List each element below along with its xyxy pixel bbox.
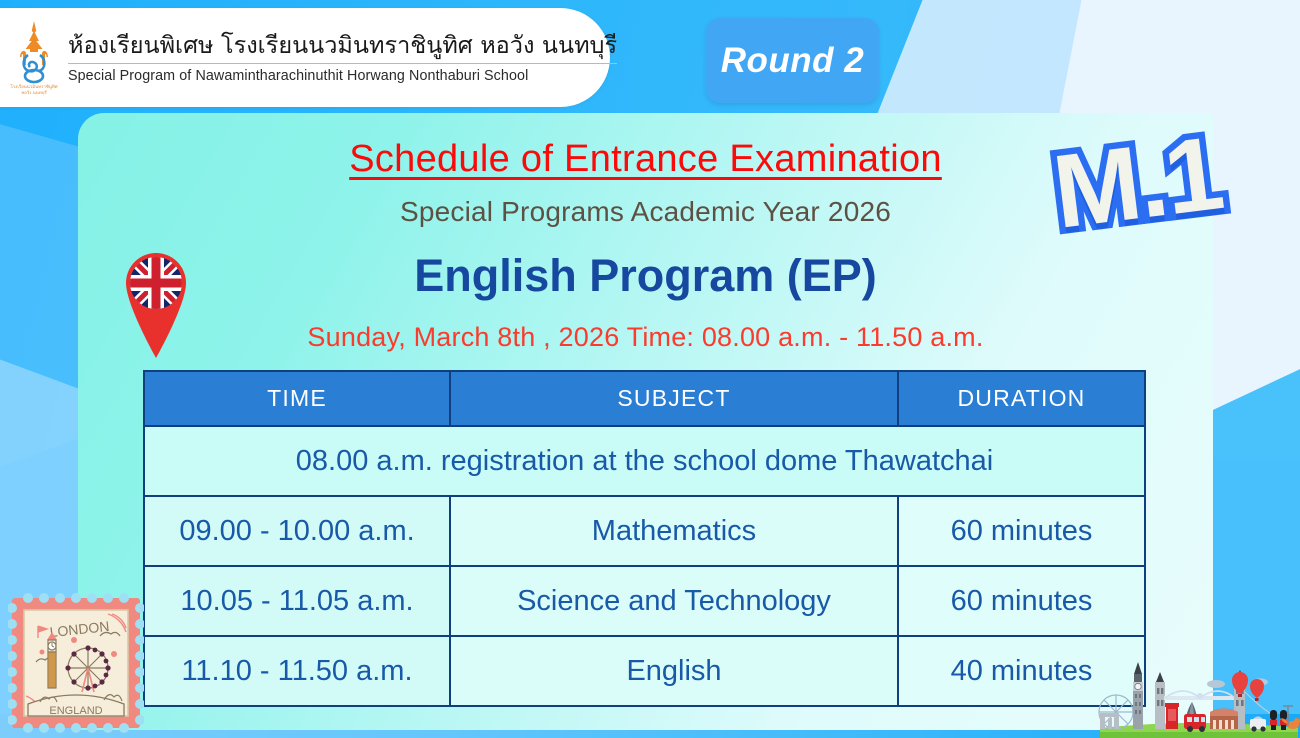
cell-time: 10.05 - 11.05 a.m. bbox=[144, 566, 450, 636]
cell-time: 11.10 - 11.50 a.m. bbox=[144, 636, 450, 706]
table-header-row: TIME SUBJECT DURATION bbox=[144, 371, 1145, 426]
london-skyline-illustration bbox=[1098, 636, 1300, 738]
registration-note: 08.00 a.m. registration at the school do… bbox=[144, 426, 1145, 496]
exam-datetime: Sunday, March 8th , 2026 Time: 08.00 a.m… bbox=[78, 322, 1213, 353]
grade-badge-label: M.1 bbox=[1023, 105, 1252, 260]
school-title-english: Special Program of Nawamintharachinuthit… bbox=[68, 68, 617, 84]
cell-subject: Mathematics bbox=[450, 496, 898, 566]
cell-subject: Science and Technology bbox=[450, 566, 898, 636]
school-crest-icon: โรงเรียนนวมินทราชินูทิศ หอวัง นนทบุรี bbox=[8, 19, 60, 97]
cell-time: 09.00 - 10.00 a.m. bbox=[144, 496, 450, 566]
school-header-card: โรงเรียนนวมินทราชินูทิศ หอวัง นนทบุรี ห้… bbox=[0, 8, 610, 107]
cell-subject: English bbox=[450, 636, 898, 706]
header-divider bbox=[68, 63, 617, 64]
svg-text:หอวัง นนทบุรี: หอวัง นนทบุรี bbox=[21, 90, 47, 96]
cell-duration: 60 minutes bbox=[898, 566, 1145, 636]
column-header-subject: SUBJECT bbox=[450, 371, 898, 426]
round-badge: Round 2 bbox=[706, 18, 879, 103]
table-row: 09.00 - 10.00 a.m. Mathematics 60 minute… bbox=[144, 496, 1145, 566]
table-row: 10.05 - 11.05 a.m. Science and Technolog… bbox=[144, 566, 1145, 636]
poster-canvas: โรงเรียนนวมินทราชินูทิศ หอวัง นนทบุรี ห้… bbox=[0, 0, 1300, 738]
school-title-thai: ห้องเรียนพิเศษ โรงเรียนนวมินทราชินูทิศ ห… bbox=[68, 31, 617, 60]
cell-duration: 60 minutes bbox=[898, 496, 1145, 566]
uk-flag-map-pin-icon bbox=[114, 243, 198, 358]
column-header-time: TIME bbox=[144, 371, 450, 426]
school-header-texts: ห้องเรียนพิเศษ โรงเรียนนวมินทราชินูทิศ ห… bbox=[68, 31, 617, 84]
column-header-duration: DURATION bbox=[898, 371, 1145, 426]
page-subtitle: Special Programs Academic Year 2026 bbox=[78, 196, 1213, 228]
grade-badge: M.1 bbox=[1023, 105, 1252, 260]
exam-schedule-table: TIME SUBJECT DURATION 08.00 a.m. registr… bbox=[143, 370, 1146, 707]
table-row: 11.10 - 11.50 a.m. English 40 minutes bbox=[144, 636, 1145, 706]
round-badge-label: Round 2 bbox=[721, 41, 864, 81]
london-stamp-illustration: LONDON bbox=[8, 592, 144, 734]
svg-text:โรงเรียนนวมินทราชินูทิศ: โรงเรียนนวมินทราชินูทิศ bbox=[10, 83, 57, 90]
registration-row: 08.00 a.m. registration at the school do… bbox=[144, 426, 1145, 496]
page-title: Schedule of Entrance Examination bbox=[78, 138, 1213, 181]
svg-text:ENGLAND: ENGLAND bbox=[49, 705, 102, 717]
program-title: English Program (EP) bbox=[78, 250, 1213, 302]
